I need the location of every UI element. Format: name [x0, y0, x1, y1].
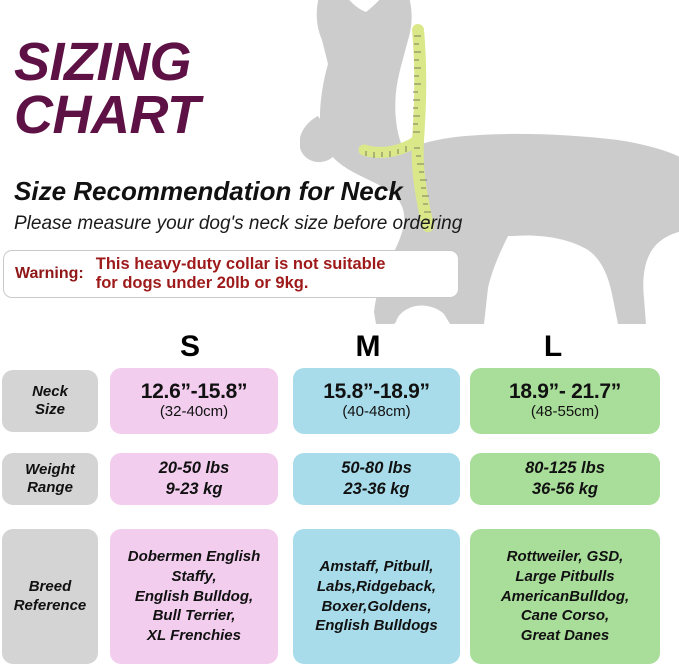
neck-size-small-sub: (32-40cm) [160, 404, 228, 421]
cell-weight-range-medium: 50-80 lbs 23-36 kg [293, 453, 460, 505]
table-row-neck-size: Neck Size 12.6”-15.8” (32-40cm) 15.8”-18… [0, 366, 679, 444]
sizing-chart-page: SIZING CHART Size Recommendation for Nec… [0, 0, 679, 672]
neck-size-small-main: 12.6”-15.8” [141, 381, 247, 403]
row-label-breed-reference: Breed Reference [2, 529, 98, 664]
cell-neck-size-small: 12.6”-15.8” (32-40cm) [110, 368, 278, 434]
measure-note: Please measure your dog's neck size befo… [14, 213, 462, 235]
table-row-breed-reference: Breed Reference Dobermen English Staffy,… [0, 521, 679, 666]
size-header-m: M [356, 330, 381, 364]
title-line-1: SIZING [14, 36, 484, 89]
neck-size-medium-main: 15.8”-18.9” [323, 381, 429, 403]
cell-neck-size-medium: 15.8”-18.9” (40-48cm) [293, 368, 460, 434]
page-title: SIZING CHART [14, 36, 484, 142]
subtitle: Size Recommendation for Neck [14, 176, 403, 207]
warning-box: Warning: This heavy-duty collar is not s… [3, 250, 459, 298]
warning-label: Warning: [15, 265, 84, 283]
table-row-weight-range: Weight Range 20-50 lbs 9-23 kg 50-80 lbs… [0, 444, 679, 521]
neck-size-large-main: 18.9”- 21.7” [509, 381, 621, 403]
cell-weight-range-small: 20-50 lbs 9-23 kg [110, 453, 278, 505]
sizing-table: Neck Size 12.6”-15.8” (32-40cm) 15.8”-18… [0, 366, 679, 666]
cell-breed-reference-medium: Amstaff, Pitbull, Labs,Ridgeback, Boxer,… [293, 529, 460, 664]
size-header-s: S [180, 330, 200, 364]
title-line-2: CHART [14, 89, 484, 142]
warning-text: This heavy-duty collar is not suitable f… [96, 255, 386, 292]
size-header-l: L [544, 330, 562, 364]
cell-neck-size-large: 18.9”- 21.7” (48-55cm) [470, 368, 660, 434]
row-label-weight-range: Weight Range [2, 453, 98, 505]
row-label-neck-size: Neck Size [2, 370, 98, 432]
neck-size-medium-sub: (40-48cm) [342, 404, 410, 421]
cell-breed-reference-large: Rottweiler, GSD, Large Pitbulls American… [470, 529, 660, 664]
size-header-row: S M L [0, 330, 679, 364]
cell-breed-reference-small: Dobermen English Staffy, English Bulldog… [110, 529, 278, 664]
cell-weight-range-large: 80-125 lbs 36-56 kg [470, 453, 660, 505]
neck-size-large-sub: (48-55cm) [531, 404, 599, 421]
